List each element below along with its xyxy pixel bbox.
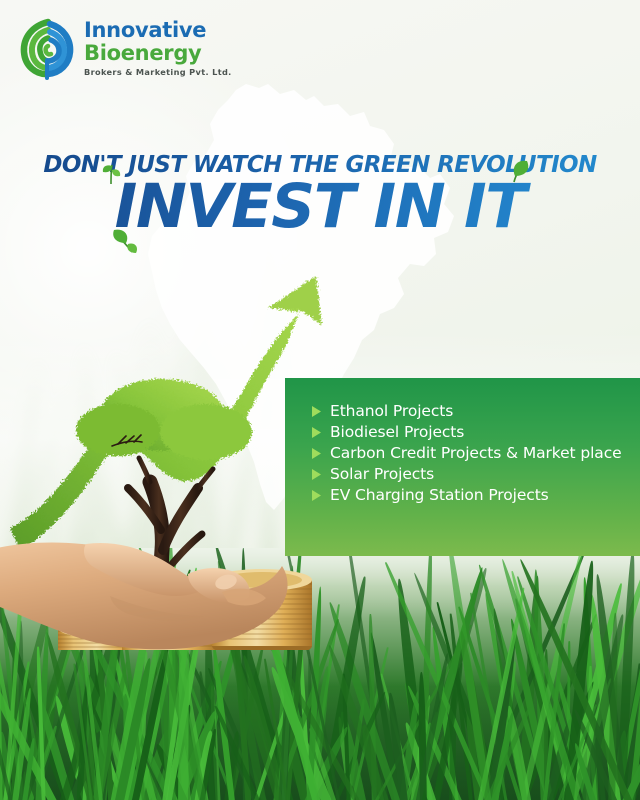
service-label: Biodiesel Projects	[330, 423, 464, 441]
brand-name-line2: Bioenergy	[84, 43, 232, 64]
list-item[interactable]: EV Charging Station Projects	[311, 486, 632, 504]
service-label: EV Charging Station Projects	[330, 486, 549, 504]
list-item[interactable]: Biodiesel Projects	[311, 423, 632, 441]
brand-wordmark: Innovative Bioenergy Brokers & Marketing…	[84, 20, 232, 76]
leaf-pair-bottom-left-icon	[110, 226, 144, 256]
service-label: Carbon Credit Projects & Market place	[330, 444, 622, 462]
tree-canopy	[76, 379, 252, 460]
leaf-sprig-left-icon	[100, 160, 122, 186]
services-panel: Ethanol Projects Biodiesel Projects Carb…	[285, 378, 640, 556]
arrow-bullet-icon	[311, 447, 322, 460]
service-label: Ethanol Projects	[330, 402, 453, 420]
service-label: Solar Projects	[330, 465, 434, 483]
list-item[interactable]: Solar Projects	[311, 465, 632, 483]
poster-canvas: Innovative Bioenergy Brokers & Marketing…	[0, 0, 640, 800]
leaf-single-right-icon	[508, 156, 534, 184]
services-list: Ethanol Projects Biodiesel Projects Carb…	[311, 402, 632, 504]
list-item[interactable]: Ethanol Projects	[311, 402, 632, 420]
brand-tagline: Brokers & Marketing Pvt. Ltd.	[84, 68, 232, 76]
list-item[interactable]: Carbon Credit Projects & Market place	[311, 444, 632, 462]
arrow-bullet-icon	[311, 468, 322, 481]
headline-block: DON'T JUST WATCH THE GREEN REVOLUTION IN…	[0, 152, 640, 237]
brand-logo[interactable]: Innovative Bioenergy Brokers & Marketing…	[18, 16, 232, 80]
arrow-bullet-icon	[311, 405, 322, 418]
headline-line2: INVEST IN IT	[0, 176, 640, 237]
bioenergy-spiral-leaf-icon	[18, 16, 76, 80]
cupped-hand	[0, 500, 320, 690]
brand-name-line1: Innovative	[84, 20, 232, 41]
arrow-bullet-icon	[311, 426, 322, 439]
